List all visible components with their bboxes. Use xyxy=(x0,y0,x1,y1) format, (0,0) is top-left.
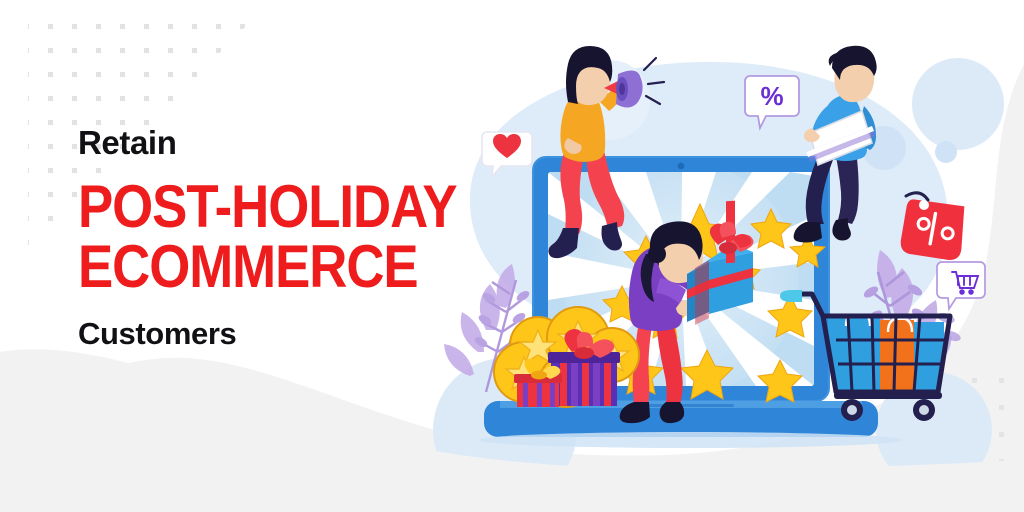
headline-block: Retain POST-HOLIDAY ECOMMERCE Customers xyxy=(78,126,458,349)
promo-banner: % Retain POST-HOLIDAY ECOMMERCE Customer… xyxy=(0,0,1024,512)
headline-line-2: ECOMMERCE xyxy=(78,239,412,295)
headline-line-1: POST-HOLIDAY xyxy=(78,179,412,235)
eyebrow-text: Retain xyxy=(78,126,458,159)
percent-symbol: % xyxy=(760,81,783,111)
cart-bubble xyxy=(937,262,985,309)
price-tag xyxy=(891,188,976,271)
subline-text: Customers xyxy=(78,318,458,349)
cart-wheel xyxy=(841,399,935,421)
heart-bubble xyxy=(482,132,532,177)
percent-bubble: % xyxy=(745,76,799,128)
